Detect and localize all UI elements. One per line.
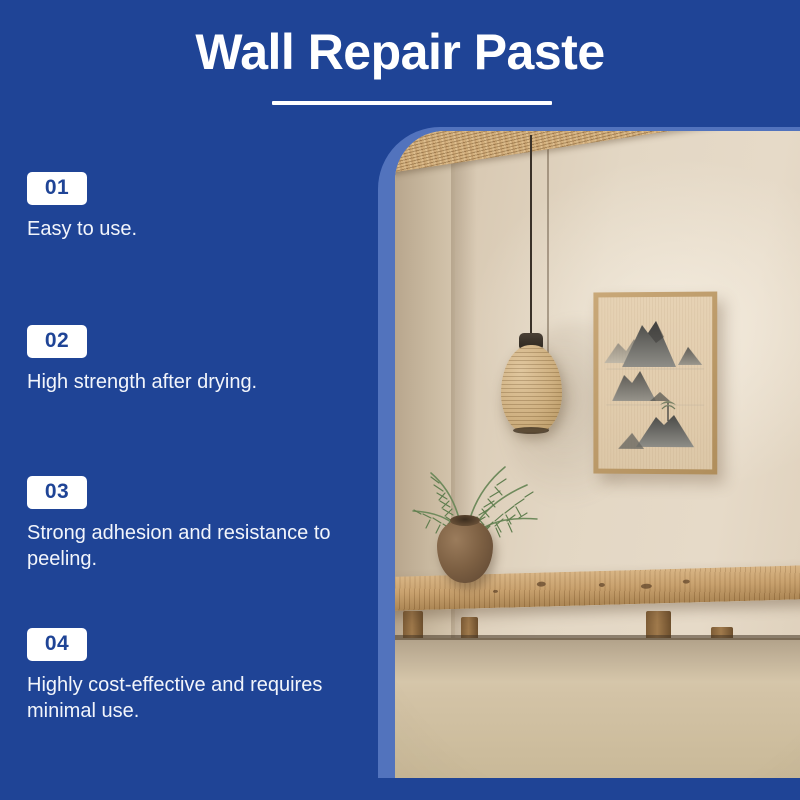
wood-knot xyxy=(599,583,605,587)
ink-mountain-artwork xyxy=(598,297,712,470)
feature-number-badge: 01 xyxy=(27,172,87,205)
feature-number-badge: 04 xyxy=(27,628,87,661)
wood-knot xyxy=(493,590,498,593)
feature-number-badge: 02 xyxy=(27,325,87,358)
wood-knot xyxy=(641,584,652,589)
pendant-lamp-shade xyxy=(501,345,562,433)
wood-knot xyxy=(537,582,546,587)
photo-panel-frame xyxy=(378,127,800,778)
floor-contact-shadow xyxy=(395,638,800,682)
feature-description: Highly cost-effective and requires minim… xyxy=(27,672,357,724)
pendant-lamp-cord xyxy=(530,135,532,340)
feature-description: High strength after drying. xyxy=(27,369,357,395)
feature-item-01: 01 Easy to use. xyxy=(27,172,377,242)
page-title: Wall Repair Paste xyxy=(0,22,800,82)
feature-item-04: 04 Highly cost-effective and requires mi… xyxy=(27,628,377,724)
fern-plant xyxy=(395,423,605,543)
poster-header: Wall Repair Paste xyxy=(0,0,800,126)
poster-canvas: Wall Repair Paste 01 Easy to use. 02 Hig… xyxy=(0,0,800,800)
ceramic-vase-rim xyxy=(450,515,480,526)
interior-photo xyxy=(395,131,800,778)
feature-description: Easy to use. xyxy=(27,216,357,242)
wooden-bench-top xyxy=(395,577,800,617)
title-underline-rule xyxy=(272,101,552,105)
fern-fronds xyxy=(395,423,605,543)
framed-landscape-painting xyxy=(593,292,717,475)
painting-canvas xyxy=(598,297,712,470)
feature-description: Strong adhesion and resistance to peelin… xyxy=(27,520,357,572)
interior-scene xyxy=(395,131,800,778)
feature-item-03: 03 Strong adhesion and resistance to pee… xyxy=(27,476,377,572)
feature-item-02: 02 High strength after drying. xyxy=(27,325,377,395)
feature-number-badge: 03 xyxy=(27,476,87,509)
wood-knot xyxy=(683,579,690,583)
